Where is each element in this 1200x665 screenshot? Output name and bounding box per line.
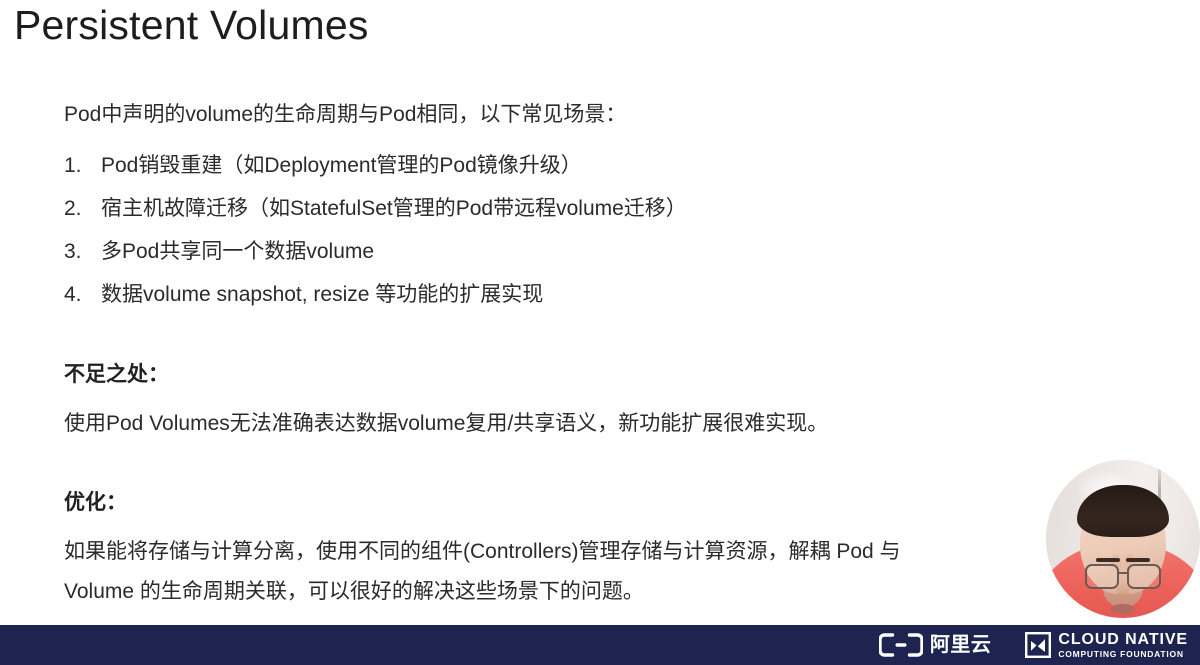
- shortcoming-heading: 不足之处：: [64, 360, 828, 390]
- list-item-label: Pod销毁重建（如Deployment管理的Pod镜像升级）: [101, 154, 582, 177]
- shortcoming-section: 不足之处： 使用Pod Volumes无法准确表达数据volume复用/共享语义…: [64, 360, 828, 444]
- optimize-line-1: 如果能将存储与计算分离，使用不同的组件(Controllers)管理存储与计算资…: [64, 532, 901, 572]
- presenter-eyebrow-right: [1126, 558, 1150, 562]
- presenter-webcam-overlay: [1046, 460, 1200, 618]
- presenter-nose: [1117, 582, 1130, 598]
- alibaba-cloud-logo: 阿里云: [879, 633, 992, 657]
- presenter-eyebrow-left: [1096, 558, 1120, 562]
- list-item: 3. 多Pod共享同一个数据volume: [64, 230, 1064, 273]
- list-item-number: 1.: [64, 144, 82, 187]
- alibaba-cloud-bracket-icon: [879, 633, 923, 657]
- optimize-line-2: Volume 的生命周期关联，可以很好的解决这些场景下的问题。: [64, 572, 901, 612]
- optimize-paragraph: 如果能将存储与计算分离，使用不同的组件(Controllers)管理存储与计算资…: [64, 532, 901, 612]
- list-item: 1. Pod销毁重建（如Deployment管理的Pod镜像升级）: [64, 144, 1064, 187]
- presenter-mouth: [1111, 604, 1135, 614]
- scenario-list: 1. Pod销毁重建（如Deployment管理的Pod镜像升级） 2. 宿主机…: [64, 144, 1064, 316]
- optimize-section: 优化： 如果能将存储与计算分离，使用不同的组件(Controllers)管理存储…: [64, 488, 901, 612]
- list-item-label: 宿主机故障迁移（如StatefulSet管理的Pod带远程volume迁移）: [101, 197, 687, 220]
- list-item-label: 数据volume snapshot, resize 等功能的扩展实现: [101, 283, 543, 306]
- glasses-lens-right: [1127, 564, 1161, 589]
- list-item-number: 4.: [64, 273, 82, 316]
- cncf-wordmark-line-1: CLOUD NATIVE: [1058, 632, 1188, 648]
- page-title: Persistent Volumes: [14, 2, 369, 49]
- shortcoming-line-1: 使用Pod Volumes无法准确表达数据volume复用/共享语义，新功能扩展…: [64, 404, 828, 444]
- cncf-logo: CLOUD NATIVE COMPUTING FOUNDATION: [1025, 632, 1188, 659]
- cncf-helm-icon: [1025, 632, 1051, 658]
- footer-bar: 阿里云 CLOUD NATIVE COMPUTING FOUNDATION: [0, 625, 1200, 665]
- list-item-number: 2.: [64, 187, 82, 230]
- cncf-wordmark: CLOUD NATIVE COMPUTING FOUNDATION: [1058, 632, 1188, 659]
- cncf-wordmark-line-2: COMPUTING FOUNDATION: [1058, 650, 1188, 659]
- list-item-label: 多Pod共享同一个数据volume: [101, 240, 374, 263]
- list-item: 2. 宿主机故障迁移（如StatefulSet管理的Pod带远程volume迁移…: [64, 187, 1064, 230]
- list-item: 4. 数据volume snapshot, resize 等功能的扩展实现: [64, 273, 1064, 316]
- lead-paragraph: Pod中声明的volume的生命周期与Pod相同，以下常见场景：: [64, 100, 1064, 130]
- alibaba-cloud-wordmark: 阿里云: [930, 635, 992, 655]
- slide-body: Pod中声明的volume的生命周期与Pod相同，以下常见场景： 1. Pod销…: [64, 100, 1064, 316]
- shortcoming-paragraph: 使用Pod Volumes无法准确表达数据volume复用/共享语义，新功能扩展…: [64, 404, 828, 444]
- glasses-lens-left: [1085, 564, 1119, 589]
- slide-canvas: Persistent Volumes Pod中声明的volume的生命周期与Po…: [0, 0, 1200, 665]
- list-item-number: 3.: [64, 230, 82, 273]
- optimize-heading: 优化：: [64, 488, 901, 518]
